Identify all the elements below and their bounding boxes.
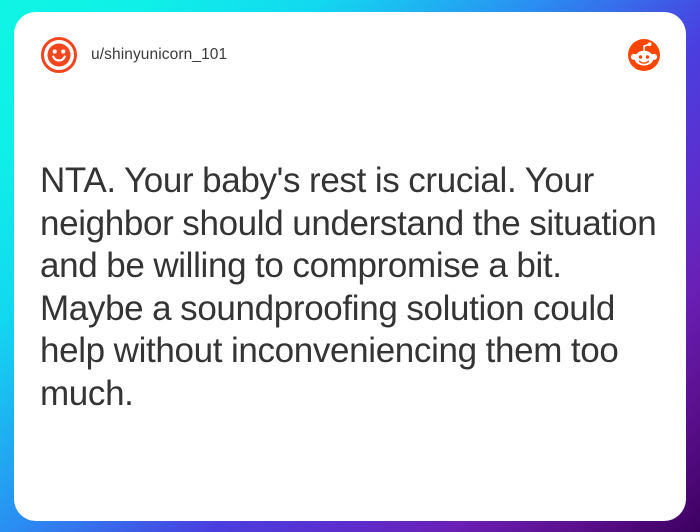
reddit-comment-card: u/shinyunicorn_101 (14, 12, 686, 521)
reddit-snoo-icon[interactable] (628, 39, 660, 71)
card-body: NTA. Your baby's rest is crucial. Your n… (40, 160, 664, 415)
screenshot-stage: u/shinyunicorn_101 (0, 0, 700, 532)
smiley-face-icon (40, 36, 78, 74)
comment-text: NTA. Your baby's rest is crucial. Your n… (40, 160, 664, 415)
card-header: u/shinyunicorn_101 (14, 12, 686, 98)
username-label: u/shinyunicorn_101 (91, 46, 227, 64)
